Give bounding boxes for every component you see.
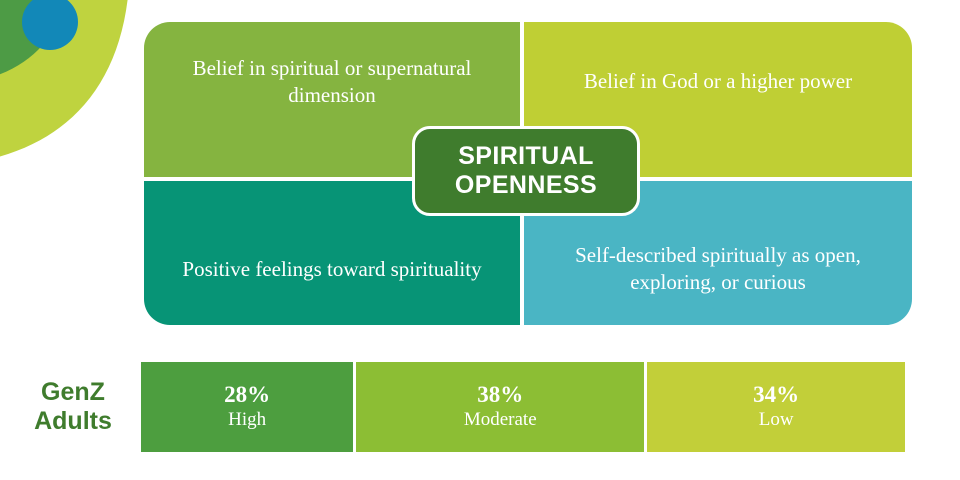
bar-segment-moderate[interactable]: 38% Moderate <box>356 362 647 452</box>
swoosh-inner-green-icon <box>0 0 70 86</box>
stacked-bar-track: 28% High 38% Moderate 34% Low <box>141 362 905 452</box>
bar-segment-high-percent: 28% <box>224 382 270 407</box>
center-badge-line1: SPIRITUAL <box>458 142 594 172</box>
bar-segment-low-percent: 34% <box>753 382 799 407</box>
bar-segment-low-level: Low <box>759 409 794 432</box>
quadrant-bottom-right-label: Self-described spiritually as open, expl… <box>550 242 886 296</box>
circle-accent-icon <box>22 0 78 50</box>
quadrant-top-left-label: Belief in spiritual or supernatural dime… <box>170 55 494 109</box>
bar-segment-high[interactable]: 28% High <box>141 362 356 452</box>
center-badge[interactable]: SPIRITUAL OPENNESS <box>412 126 640 216</box>
bar-segment-moderate-percent: 38% <box>477 382 523 407</box>
quadrant-top-right-label: Belief in God or a higher power <box>584 68 852 95</box>
bar-segment-low[interactable]: 34% Low <box>647 362 905 452</box>
infographic-slide: Belief in spiritual or supernatural dime… <box>0 0 960 480</box>
decorative-corner-logo <box>0 0 150 160</box>
bar-row-label: GenZ Adults <box>12 362 134 452</box>
swoosh-lime-icon <box>0 0 130 160</box>
bar-row-label-line1: GenZ <box>41 378 105 407</box>
bar-segment-high-level: High <box>228 409 266 432</box>
stacked-bar-row: GenZ Adults 28% High 38% Moderate 34% Lo… <box>0 362 960 452</box>
bar-segment-moderate-level: Moderate <box>464 409 537 432</box>
bar-row-label-line2: Adults <box>34 407 112 436</box>
center-badge-line2: OPENNESS <box>455 171 597 201</box>
swoosh-dark-green-icon <box>0 0 96 124</box>
quadrant-bottom-left-label: Positive feelings toward spirituality <box>182 256 481 283</box>
